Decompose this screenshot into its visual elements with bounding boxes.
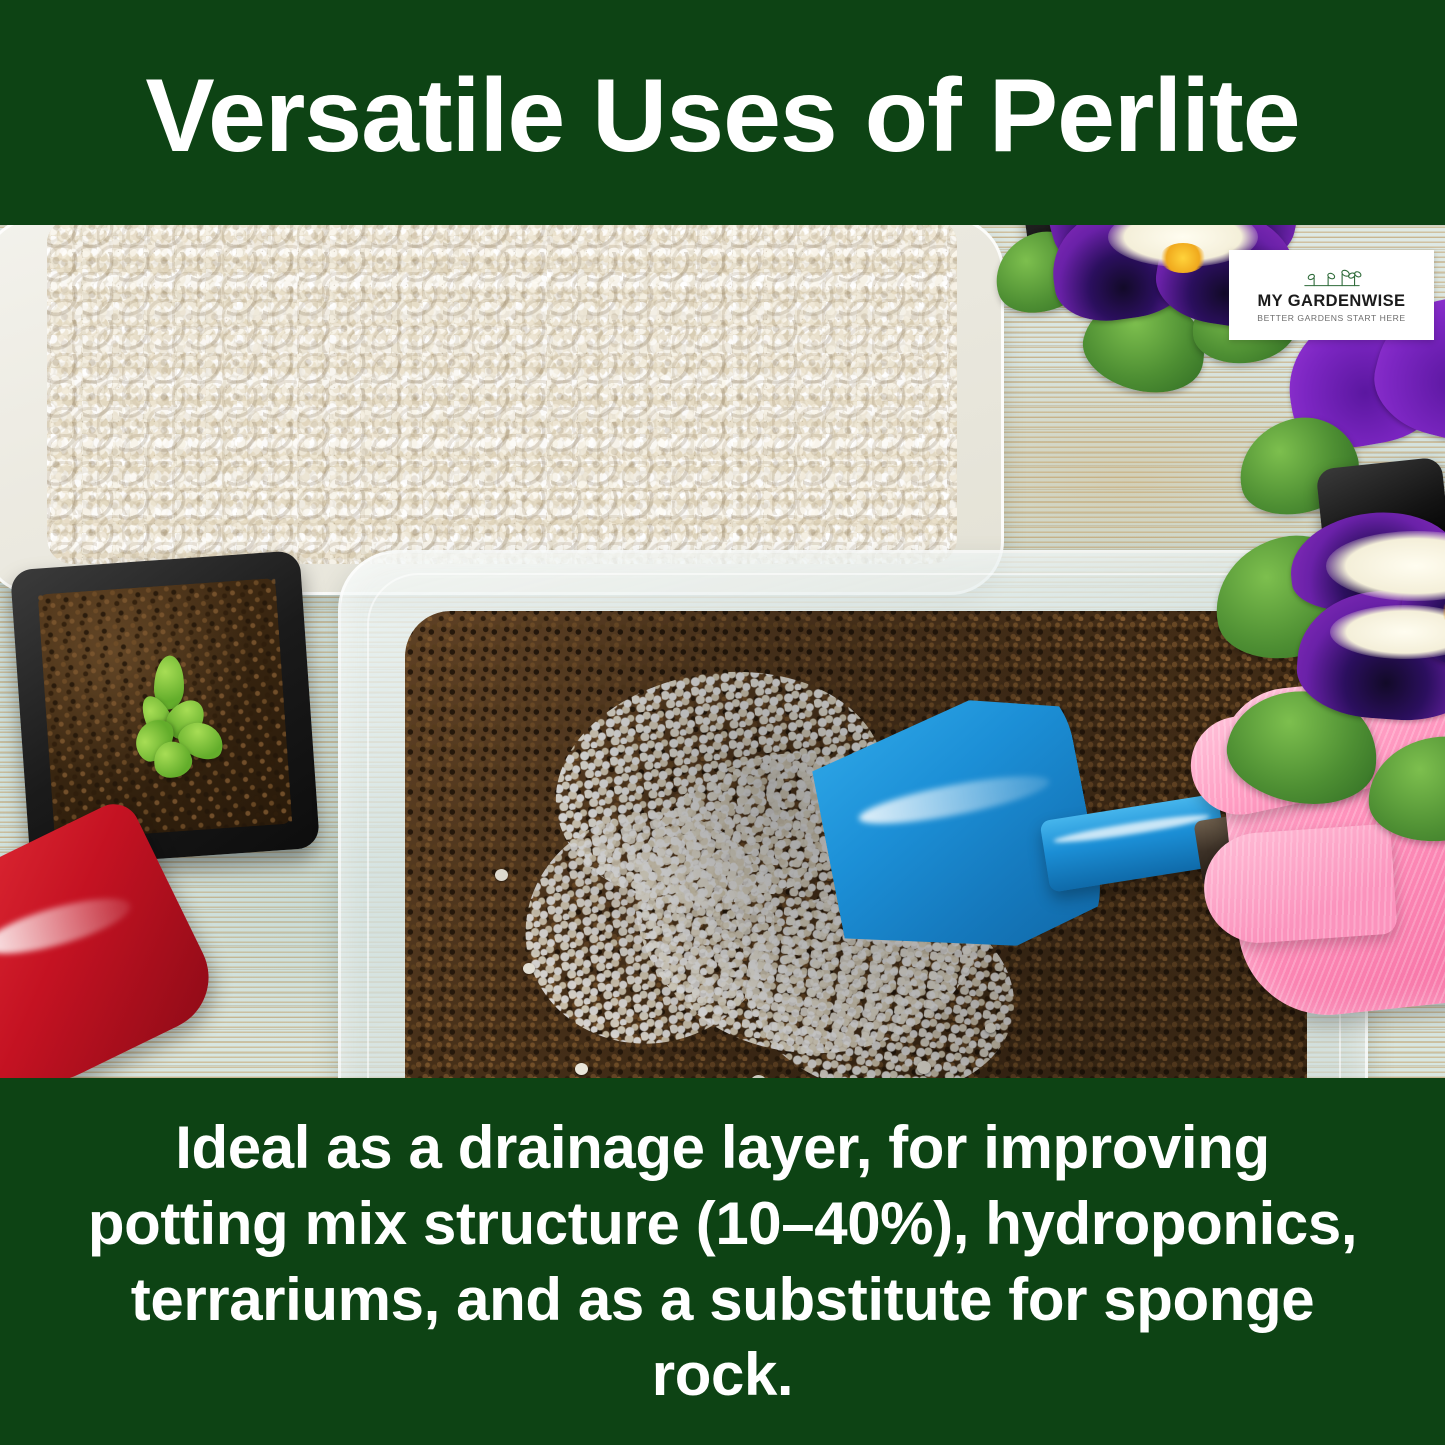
- perlite-speck: [575, 1063, 588, 1075]
- caption-text: Ideal as a drainage layer, for improving…: [80, 1110, 1365, 1412]
- logo-name: MY GARDENWISE: [1258, 293, 1406, 310]
- photo-panel: MY GARDENWISE BETTER GARDENS START HERE: [0, 225, 1445, 1078]
- caption-band: Ideal as a drainage layer, for improving…: [0, 1078, 1445, 1445]
- seedling-sprout: [124, 651, 243, 788]
- perlite-infographic-card: Versatile Uses of Perlite: [0, 0, 1445, 1445]
- perlite-granule-shadows: [47, 225, 957, 564]
- title-band: Versatile Uses of Perlite: [0, 0, 1445, 225]
- perlite-speck: [985, 1023, 996, 1033]
- perlite-speck: [523, 963, 535, 974]
- perlite-speck: [917, 1061, 931, 1074]
- pansy-center: [1160, 243, 1206, 273]
- page-title: Versatile Uses of Perlite: [145, 58, 1299, 168]
- glove-finger: [1200, 824, 1397, 947]
- perlite-tray: [0, 225, 1004, 595]
- brand-logo-badge[interactable]: MY GARDENWISE BETTER GARDENS START HERE: [1229, 250, 1434, 340]
- pansy-flower-bottom: [1238, 485, 1445, 825]
- perlite-cluster: [501, 786, 799, 1070]
- perlite-speck: [495, 869, 508, 881]
- logo-tagline: BETTER GARDENS START HERE: [1257, 314, 1405, 323]
- perlite-fill: [47, 225, 957, 564]
- seedling-pot: [10, 550, 320, 868]
- seedling-sprouts-icon: [1297, 267, 1367, 291]
